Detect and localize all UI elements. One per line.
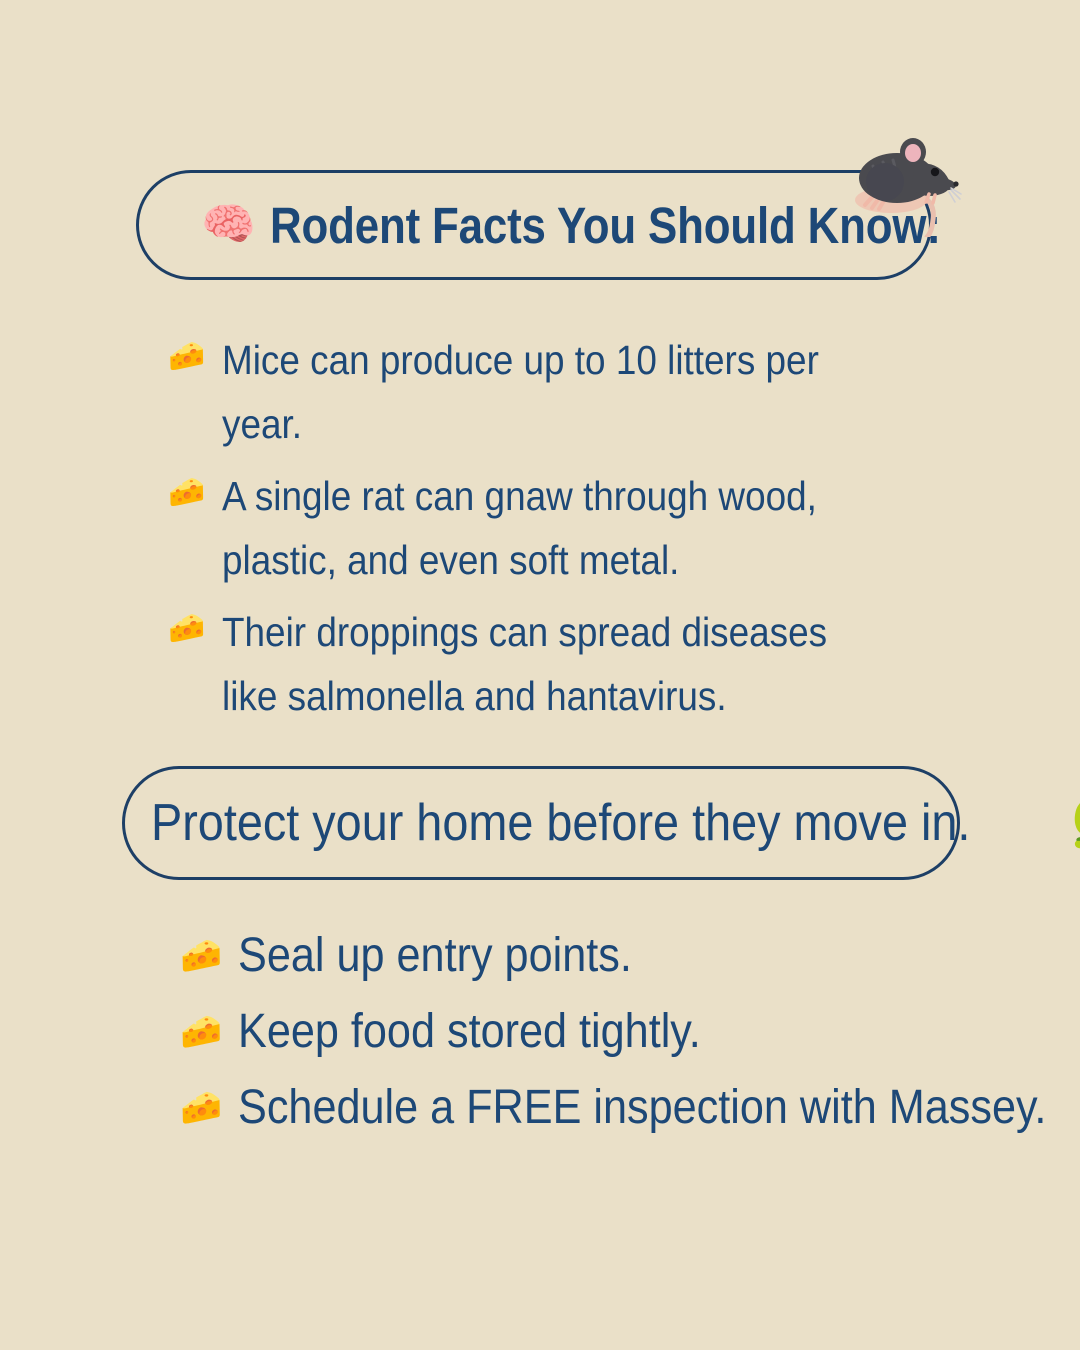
list-item: 🧀 Schedule a FREE inspection with Massey… bbox=[180, 1070, 1030, 1146]
list-item: 🧀 Their droppings can spread diseases li… bbox=[168, 600, 958, 728]
action-text: Keep food stored tightly. bbox=[238, 1007, 701, 1057]
protect-headline: Protect your home before they move in. bbox=[151, 797, 970, 849]
rodent-facts-list: 🧀 Mice can produce up to 10 litters per … bbox=[168, 328, 958, 736]
fact-text: Their droppings can spread diseases like… bbox=[222, 600, 884, 728]
cheese-emoji: 🧀 bbox=[168, 600, 222, 658]
cheese-emoji: 🧀 bbox=[180, 1015, 238, 1049]
action-text: Schedule a FREE inspection with Massey. bbox=[238, 1083, 1046, 1133]
protect-actions-list: 🧀 Seal up entry points. 🧀 Keep food stor… bbox=[180, 918, 1030, 1146]
header-title-row: 🧠 Rodent Facts You Should Know: bbox=[201, 200, 1050, 251]
list-item: 🧀 A single rat can gnaw through wood, pl… bbox=[168, 464, 958, 592]
cheese-emoji: 🧀 bbox=[180, 939, 238, 973]
list-item: 🧀 Seal up entry points. bbox=[180, 918, 1030, 994]
list-item: 🧀 Mice can produce up to 10 litters per … bbox=[168, 328, 958, 456]
house-with-garden-emoji: 🏡 bbox=[1071, 800, 1080, 846]
protect-home-pill: Protect your home before they move in. 🏡 bbox=[122, 766, 960, 880]
fact-text: Mice can produce up to 10 litters per ye… bbox=[222, 328, 884, 456]
protect-row: Protect your home before they move in. 🏡 bbox=[151, 797, 1080, 849]
action-text: Seal up entry points. bbox=[238, 931, 632, 981]
list-item: 🧀 Keep food stored tightly. bbox=[180, 994, 1030, 1070]
cheese-emoji: 🧀 bbox=[168, 328, 222, 386]
fact-text: A single rat can gnaw through wood, plas… bbox=[222, 464, 884, 592]
poster-canvas: 🧠 Rodent Facts You Should Know: bbox=[0, 0, 1080, 1350]
cheese-emoji: 🧀 bbox=[180, 1091, 238, 1125]
brain-emoji: 🧠 bbox=[201, 203, 256, 247]
page-title: Rodent Facts You Should Know: bbox=[270, 200, 941, 251]
cheese-emoji: 🧀 bbox=[168, 464, 222, 522]
rodent-facts-header-pill: 🧠 Rodent Facts You Should Know: bbox=[136, 170, 932, 280]
